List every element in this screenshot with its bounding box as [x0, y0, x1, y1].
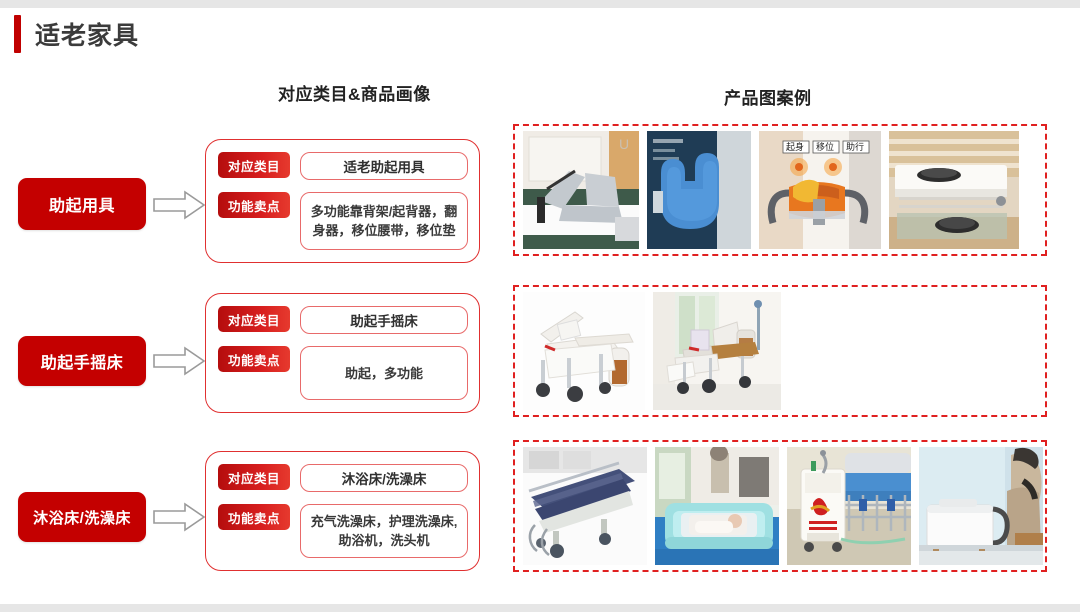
card-row2-category: 对应类目 助起手摇床 [218, 306, 468, 334]
features-value-row3: 充气洗澡床，护理洗澡床, 助浴机，洗头机 [300, 504, 468, 558]
title-accent-bar [14, 15, 21, 53]
photo-manual-crank-bed-room[interactable] [653, 292, 781, 410]
page-title: 适老家具 [14, 12, 139, 56]
right-arrow-icon-row1 [152, 190, 206, 220]
category-value-row2: 助起手摇床 [300, 306, 468, 334]
badge-category-row3: 对应类目 [218, 464, 290, 490]
card-row3-features: 功能卖点 充气洗澡床，护理洗澡床, 助浴机，洗头机 [218, 504, 468, 558]
card-row2-features: 功能卖点 助起，多功能 [218, 346, 468, 400]
detail-card-row3: 对应类目 沐浴床/洗澡床 功能卖点 充气洗澡床，护理洗澡床, 助浴机，洗头机 [205, 451, 480, 571]
photo-panel-row3 [513, 440, 1047, 572]
column-header-right: 产品图案例 [724, 84, 812, 109]
badge-category-row1: 对应类目 [218, 152, 290, 178]
svg-text:助行: 助行 [846, 141, 864, 152]
features-value-row2: 助起，多功能 [300, 346, 468, 400]
right-arrow-icon-row2 [152, 346, 206, 376]
photo-hair-washing-machine[interactable] [919, 447, 1043, 565]
badge-features-row1: 功能卖点 [218, 192, 290, 218]
category-value-row2-text: 助起手摇床 [350, 310, 418, 330]
category-value-row3-text: 沐浴床/洗澡床 [342, 468, 427, 488]
category-chip-row3[interactable]: 沐浴床/洗澡床 [18, 492, 146, 542]
card-row3-category: 对应类目 沐浴床/洗澡床 [218, 464, 468, 492]
badge-category-row1-label: 对应类目 [228, 156, 280, 175]
detail-card-row2: 对应类目 助起手摇床 功能卖点 助起，多功能 [205, 293, 480, 413]
badge-features-row2-label: 功能卖点 [228, 350, 280, 369]
category-value-row1-text: 适老助起用具 [344, 156, 425, 176]
badge-features-row2: 功能卖点 [218, 346, 290, 372]
photo-inflatable-bath-bed[interactable] [655, 447, 779, 565]
badge-features-row1-label: 功能卖点 [228, 196, 280, 215]
photo-bath-assist-machine[interactable] [787, 447, 911, 565]
category-chip-row2[interactable]: 助起手摇床 [18, 336, 146, 386]
features-value-row2-text: 助起，多功能 [345, 364, 423, 383]
photo-nursing-shower-trolley[interactable] [523, 447, 647, 565]
category-value-row1: 适老助起用具 [300, 152, 468, 180]
badge-category-row2: 对应类目 [218, 306, 290, 332]
detail-card-row1: 对应类目 适老助起用具 功能卖点 多功能靠背架/起背器，翻身器，移位腰带，移位垫 [205, 139, 480, 263]
card-row1-category: 对应类目 适老助起用具 [218, 152, 468, 180]
badge-category-row3-label: 对应类目 [228, 468, 280, 487]
badge-features-row3: 功能卖点 [218, 504, 290, 530]
features-value-row1: 多功能靠背架/起背器，翻身器，移位腰带，移位垫 [300, 192, 468, 250]
category-chip-row2-label: 助起手摇床 [41, 349, 124, 373]
badge-category-row2-label: 对应类目 [228, 310, 280, 329]
photo-panel-row2 [513, 285, 1047, 417]
category-value-row3: 沐浴床/洗澡床 [300, 464, 468, 492]
category-chip-row1-label: 助起用具 [49, 192, 115, 216]
photo-panel-row1: U [513, 124, 1047, 256]
features-value-row1-text: 多功能靠背架/起背器，翻身器，移位腰带，移位垫 [309, 202, 459, 240]
category-chip-row1[interactable]: 助起用具 [18, 178, 146, 230]
column-header-middle: 对应类目&商品画像 [278, 80, 431, 105]
photo-transfer-belt[interactable]: 起身 移位 助行 [759, 131, 881, 249]
photo-back-support-bed[interactable]: U [523, 131, 639, 249]
photo-manual-crank-bed-white[interactable] [523, 292, 645, 410]
right-arrow-icon-row3 [152, 502, 206, 532]
category-chip-row3-label: 沐浴床/洗澡床 [33, 507, 131, 528]
svg-text:移位: 移位 [816, 141, 834, 152]
card-row1-features: 功能卖点 多功能靠背架/起背器，翻身器，移位腰带，移位垫 [218, 192, 468, 250]
title-text: 适老家具 [35, 16, 139, 52]
photo-blue-turning-pad[interactable] [647, 131, 751, 249]
features-value-row3-text: 充气洗澡床，护理洗澡床, 助浴机，洗头机 [309, 512, 459, 550]
photo-transfer-disc-bed[interactable] [889, 131, 1019, 249]
svg-text:U: U [619, 136, 629, 152]
slide-canvas: 适老家具 对应类目&商品画像 产品图案例 助起用具 对应类目 适老助起用具 功能… [0, 8, 1080, 604]
badge-features-row3-label: 功能卖点 [228, 508, 280, 527]
svg-text:起身: 起身 [786, 141, 804, 152]
